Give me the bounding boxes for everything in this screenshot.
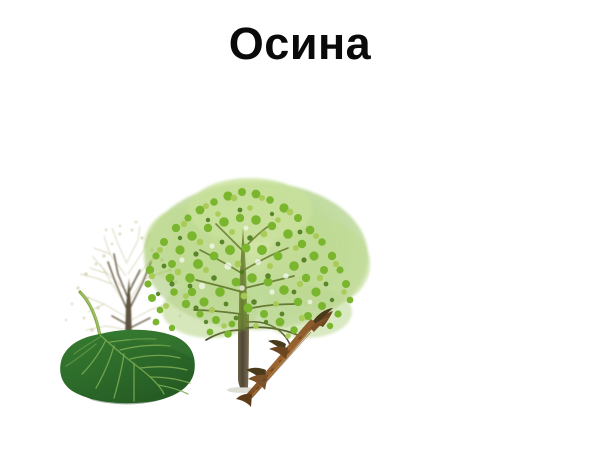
- slide-canvas: Осина: [0, 0, 600, 450]
- twig-mid-bud: [268, 340, 288, 359]
- illustration-figure: [0, 78, 600, 450]
- twig-basal-bud: [236, 394, 252, 407]
- illustration-svg: [0, 78, 600, 450]
- page-title: Осина: [0, 16, 600, 72]
